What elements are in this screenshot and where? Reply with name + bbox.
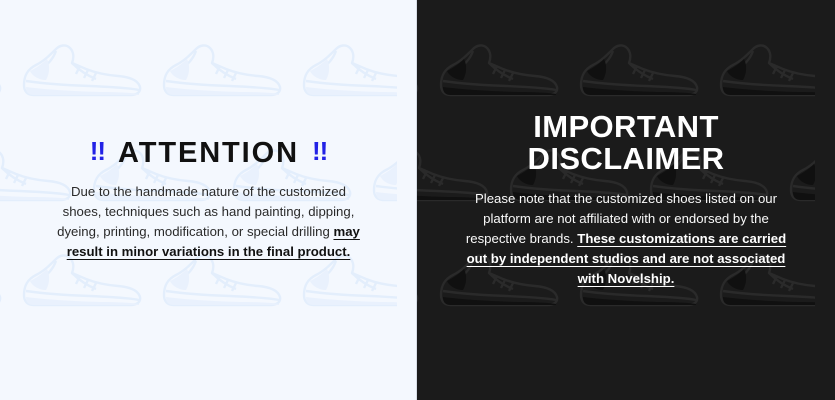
attention-heading: !! ATTENTION !! (36, 138, 381, 168)
panel-divider (416, 0, 417, 400)
attention-body: Due to the handmade nature of the custom… (54, 182, 364, 262)
disclaimer-heading-line-1: IMPORTANT (443, 111, 809, 143)
disclaimer-panel: IMPORTANT DISCLAIMER Please note that th… (417, 0, 835, 400)
disclaimer-body: Please note that the customized shoes li… (461, 189, 791, 289)
disclaimer-banner: !! ATTENTION !! Due to the handmade natu… (0, 0, 835, 400)
attention-panel: !! ATTENTION !! Due to the handmade natu… (0, 0, 417, 400)
disclaimer-heading-line-2: DISCLAIMER (443, 143, 809, 175)
disclaimer-heading: IMPORTANT DISCLAIMER (443, 111, 809, 175)
attention-body-plain: Due to the handmade nature of the custom… (57, 184, 354, 239)
exclamation-right-icon: !! (312, 138, 327, 165)
exclamation-left-icon: !! (90, 138, 105, 165)
attention-heading-text: ATTENTION (118, 138, 299, 168)
